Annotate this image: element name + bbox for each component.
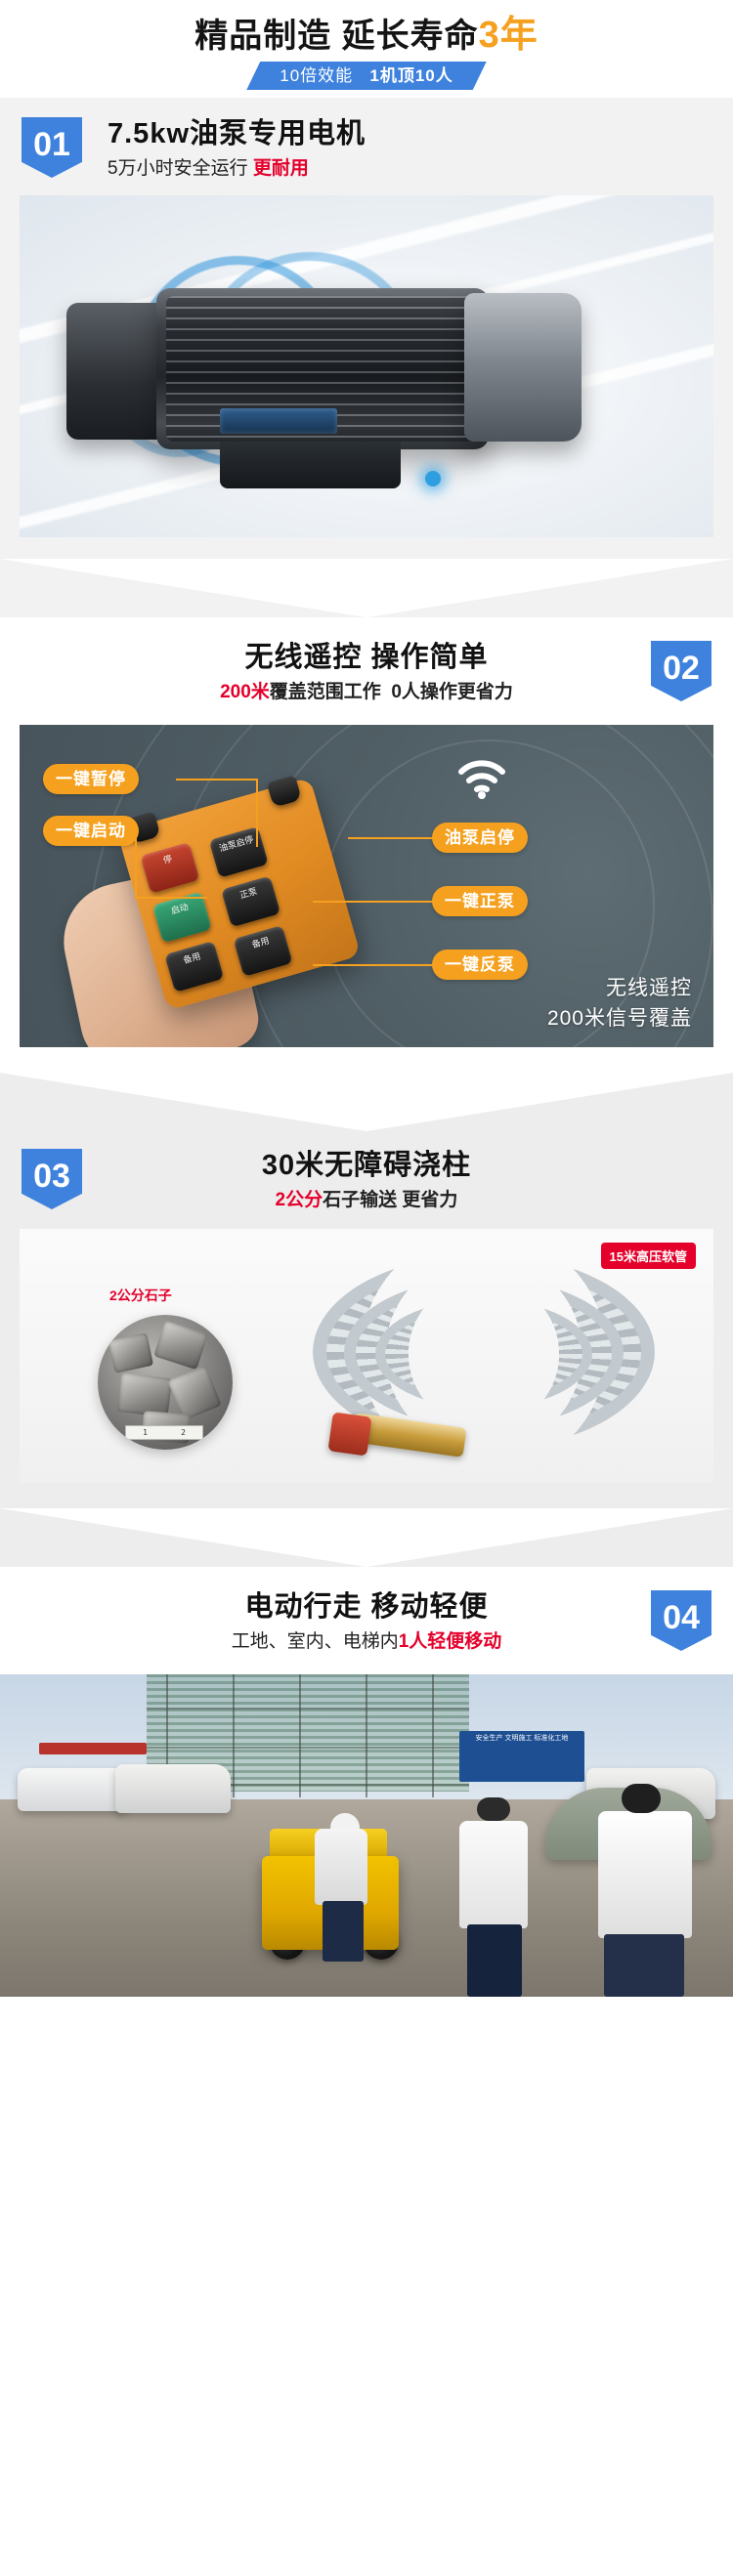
callout-leader-line (313, 901, 434, 903)
bystander-legs (467, 1924, 522, 1997)
worker-upper-body (315, 1829, 367, 1905)
section-02-subtitle-plain: 覆盖范围工作 (270, 682, 381, 702)
ruler-mark-1: 1 (143, 1428, 148, 1437)
section-03-subtitle-extra: 更省力 (402, 1190, 457, 1210)
section-03-photo-wrap: 15米高压软管 2公分石子 1 2 (0, 1229, 733, 1508)
corner-caption-line2: 200米信号覆盖 (547, 1003, 692, 1034)
hero-ribbon-part2: 1机顶10人 (369, 66, 453, 85)
remote-button-stop[interactable]: 停 (140, 842, 199, 894)
indicator-led-icon (425, 471, 441, 486)
hose-length-tag: 15米高压软管 (601, 1243, 696, 1269)
section-02-subtitle-extra: 0人操作更省力 (391, 682, 513, 702)
hero-ribbon: 10倍效能 1机顶10人 (246, 62, 486, 90)
section-04: 04 电动行走 移动轻便 工地、室内、电梯内1人轻便移动 安全生产 文明施工 标… (0, 1567, 733, 2022)
remote-button-start[interactable]: 启动 (152, 892, 212, 944)
worker-legs (323, 1901, 364, 1962)
section-02-titles: 无线遥控 操作简单 200米覆盖范围工作 0人操作更省力 (0, 617, 733, 707)
gravel-stone (153, 1321, 207, 1370)
ruler-mark-2: 2 (181, 1428, 186, 1437)
section-03-subtitle: 2公分石子输送 更省力 (0, 1186, 733, 1215)
remote-button-spare-1[interactable]: 备用 (164, 941, 224, 992)
section-03: 03 30米无障碍浇柱 2公分石子输送 更省力 15米高压软管 2公分石子 (0, 1131, 733, 1508)
section-04-head: 04 电动行走 移动轻便 工地、室内、电梯内1人轻便移动 (0, 1567, 733, 1674)
callout-pump-toggle: 油泵启停 (432, 823, 528, 853)
section-01: 01 7.5kw油泵专用电机 5万小时安全运行 更耐用 (0, 98, 733, 559)
scaffold-rail (147, 1747, 469, 1749)
section-04-subtitle-plain: 工地、室内、电梯内 (232, 1631, 399, 1652)
callout-leader-line (176, 779, 258, 781)
remote-control-photo: 停 油泵启停 启动 正泵 备用 备用 一键暂停 一键启动 油泵启停 一键正泵 一… (20, 725, 713, 1047)
bystander-head (477, 1797, 510, 1821)
hero-header: 精品制造 延长寿命3年 10倍效能 1机顶10人 (0, 0, 733, 98)
motor-front-housing (464, 293, 582, 442)
scaffold-pole (366, 1674, 367, 1797)
bystander-upper-body (459, 1821, 528, 1928)
section-01-head: 01 7.5kw油泵专用电机 5万小时安全运行 更耐用 (0, 98, 733, 195)
section-03-titles: 30米无障碍浇柱 2公分石子输送 更省力 (0, 1131, 733, 1215)
section-02-subtitle-highlight: 200米 (220, 682, 270, 702)
section-04-subtitle: 工地、室内、电梯内1人轻便移动 (0, 1627, 733, 1657)
wifi-signal-icon (455, 758, 508, 799)
gravel-stone (108, 1332, 153, 1373)
corner-caption-line1: 无线遥控 (547, 973, 692, 1003)
section-01-photo-wrap (0, 195, 733, 559)
remote-button-spare-2[interactable]: 备用 (234, 925, 293, 977)
second-bystander-body (598, 1811, 692, 1938)
second-bystander-legs (604, 1934, 684, 1997)
page-title-main: 精品制造 延长寿命 (194, 18, 478, 55)
motor-nameplate (220, 408, 337, 434)
section-01-subtitle-plain: 5万小时安全运行 (108, 158, 248, 179)
page-bottom-spacer (0, 1997, 733, 2022)
section-02: 02 无线遥控 操作简单 200米覆盖范围工作 0人操作更省力 (0, 617, 733, 1073)
callout-reverse-pump: 一键反泵 (432, 950, 528, 980)
page-title: 精品制造 延长寿命3年 (0, 0, 733, 58)
separator-chevron (0, 1073, 733, 1131)
section-02-subtitle: 200米覆盖范围工作 0人操作更省力 (0, 678, 733, 707)
hose-coil-inner (375, 1299, 592, 1409)
separator-chevron (0, 1508, 733, 1567)
scale-ruler: 1 2 (125, 1425, 203, 1440)
callout-leader-line (348, 837, 434, 839)
hose-red-coupler (327, 1412, 371, 1456)
section-01-title: 7.5kw油泵专用电机 (108, 115, 733, 152)
section-01-titles: 7.5kw油泵专用电机 5万小时安全运行 更耐用 (0, 98, 733, 184)
parked-van (115, 1764, 231, 1813)
callout-forward-pump: 一键正泵 (432, 886, 528, 916)
hero-ribbon-part1: 10倍效能 (280, 66, 353, 85)
scaffold-pole (432, 1674, 434, 1797)
callout-leader-line (135, 830, 137, 899)
section-03-title: 30米无障碍浇柱 (0, 1147, 733, 1184)
section-04-subtitle-highlight: 1人轻便移动 (399, 1631, 502, 1652)
section-03-subtitle-highlight: 2公分 (276, 1190, 323, 1210)
scaffold-pole (299, 1674, 301, 1797)
section-02-title: 无线遥控 操作简单 (0, 639, 733, 676)
hero-ribbon-wrap: 10倍效能 1机顶10人 (0, 62, 733, 90)
callout-leader-line (135, 897, 207, 899)
callout-start: 一键启动 (43, 816, 139, 846)
page-title-accent: 3年 (479, 15, 539, 56)
section-01-subtitle-highlight: 更耐用 (253, 158, 309, 179)
product-detail-page: 精品制造 延长寿命3年 10倍效能 1机顶10人 01 7.5kw油泵专用电机 … (0, 0, 733, 2576)
scaffold-rail (147, 1708, 469, 1710)
callout-leader-line (256, 779, 258, 847)
scaffold-pole (233, 1674, 235, 1797)
callout-pause: 一键暂停 (43, 764, 139, 794)
gravel-caption: 2公分石子 (109, 1286, 172, 1305)
section-04-titles: 电动行走 移动轻便 工地、室内、电梯内1人轻便移动 (0, 1567, 733, 1657)
gravel-sample-photo: 1 2 (98, 1315, 233, 1450)
jobsite-photo: 安全生产 文明施工 标准化工地 (0, 1674, 733, 1997)
section-03-subtitle-plain: 石子输送 (323, 1190, 397, 1210)
remote-button-forward[interactable]: 正泵 (221, 876, 280, 928)
motor-photo (20, 195, 713, 537)
photo-corner-caption: 无线遥控 200米信号覆盖 (547, 973, 692, 1034)
section-02-photo-wrap: 停 油泵启停 启动 正泵 备用 备用 一键暂停 一键启动 油泵启停 一键正泵 一… (0, 725, 733, 1073)
separator-chevron (0, 559, 733, 617)
section-03-head: 03 30米无障碍浇柱 2公分石子输送 更省力 (0, 1131, 733, 1229)
hose-and-gravel-photo: 15米高压软管 2公分石子 1 2 (20, 1229, 713, 1483)
section-02-head: 02 无线遥控 操作简单 200米覆盖范围工作 0人操作更省力 (0, 617, 733, 725)
section-01-subtitle: 5万小时安全运行 更耐用 (108, 154, 733, 184)
remote-button-pump-toggle[interactable]: 油泵启停 (209, 826, 269, 878)
site-notice-board: 安全生产 文明施工 标准化工地 (459, 1731, 584, 1782)
motor-base-foot (220, 442, 401, 488)
second-bystander-head (622, 1784, 661, 1813)
section-04-title: 电动行走 移动轻便 (0, 1588, 733, 1626)
callout-leader-line (313, 964, 434, 966)
parked-car (18, 1768, 127, 1811)
site-red-banner (39, 1743, 147, 1754)
